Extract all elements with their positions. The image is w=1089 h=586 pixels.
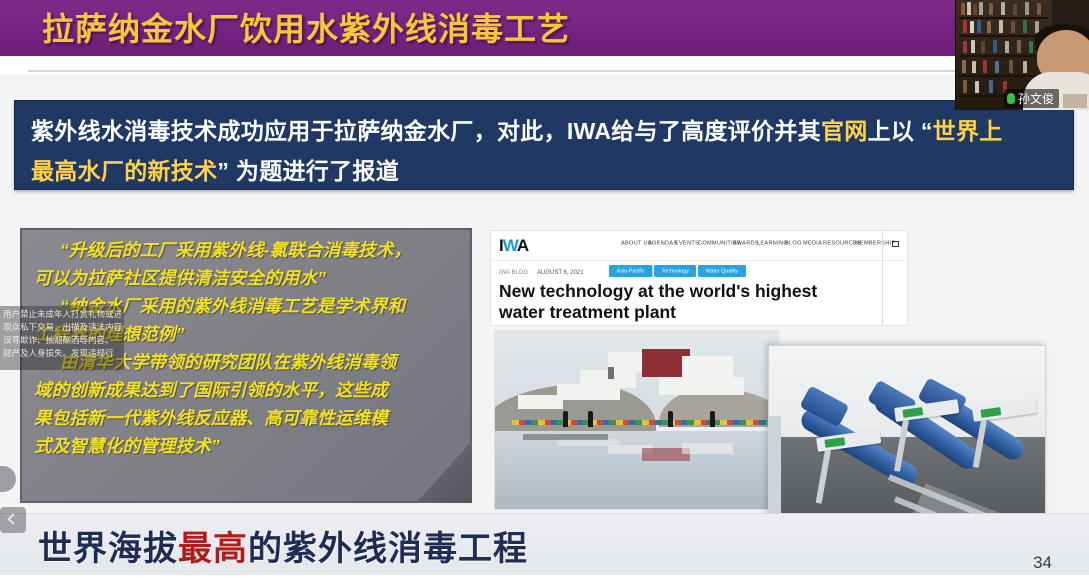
page-title: 拉萨纳金水厂饮用水紫外线消毒工艺 [42, 4, 570, 50]
photo-person [668, 411, 673, 427]
slide-footer-banner: 世界海拔最高的紫外线消毒工程 [0, 513, 1089, 575]
book [963, 20, 967, 33]
banner-line2-text: ” 为题进行了报道 [217, 158, 399, 184]
chevron-left-icon [7, 513, 18, 524]
stream-disclaimer-watermark: 用户禁止未成年人打赏礼物或进 观众私下交易，出描及违法内容 误导欺诈、抽烟酗酒等… [0, 306, 124, 370]
photo-prayer-flags [512, 420, 767, 425]
book [972, 61, 976, 73]
book [1005, 41, 1009, 53]
presentation-slide: 拉萨纳金水厂饮用水紫外线消毒工艺 紫外线水消毒技术成功应用于拉萨纳金水厂，对此，… [0, 0, 1089, 586]
shelf-row [959, 22, 1048, 37]
book [1025, 2, 1029, 15]
book [1023, 61, 1027, 73]
reflection-block [682, 443, 733, 454]
book [993, 40, 997, 53]
iwa-nav-item: BLOG [785, 240, 802, 246]
iwa-sidebar-rule [882, 231, 883, 325]
book [973, 4, 977, 15]
quote-line-8: 式及智慧化的管理技术” [34, 432, 458, 460]
photo-water-reflection [495, 431, 778, 509]
quote-line-6: 域的创新成果达到了国际引领的水平，这些成 [34, 376, 458, 404]
uv-label-tag [824, 437, 845, 448]
iwa-nav-item: AGENDAS [648, 240, 677, 246]
footer-text-b: 的紫外线消毒工程 [248, 530, 528, 568]
quote-line-1: “升级后的工厂采用紫外线-氯联合消毒技术， [34, 236, 458, 264]
iwa-website-screenshot: IWA ABOUT US AGENDAS EVENTS COMMUNITIES … [490, 230, 908, 326]
banner-line1-text-b: 上以 “ [868, 118, 933, 144]
screen: 拉萨纳金水厂饮用水紫外线消毒工艺 紫外线水消毒技术成功应用于拉萨纳金水厂，对此，… [0, 0, 1089, 586]
webcam-video-tile[interactable]: 孙文俊 [955, 0, 1089, 110]
shelf-row [959, 62, 1048, 77]
watermark-line: 误导欺诈、抽烟酗酒等内容。 [3, 334, 121, 347]
iwa-logo-icon: IWA [499, 237, 528, 254]
webcam-corner-artifact [1063, 94, 1087, 108]
book [1013, 4, 1017, 15]
iwa-nav-bar: IWA ABOUT US AGENDAS EVENTS COMMUNITIES … [491, 231, 907, 261]
footer-white-strip [0, 575, 1089, 586]
iwa-tag: Technology [654, 265, 696, 277]
banner-line1-highlight-2: 世界上 [933, 118, 1003, 144]
iwa-nav-item: LEARNING [757, 240, 788, 246]
watermark-line: 财产及人身损失。发现违规行 [3, 347, 121, 360]
page-number: 34 [1033, 553, 1052, 573]
book [1001, 2, 1005, 15]
footer-highlight: 最高 [178, 530, 248, 568]
book [1009, 60, 1013, 73]
left-edge-drag-handle[interactable] [0, 466, 16, 492]
watermark-line: 用户禁止未成年人打赏礼物或进 [3, 308, 121, 321]
book [979, 2, 983, 15]
book [981, 41, 985, 53]
book [1023, 20, 1027, 33]
participant-name-label: 孙文俊 [1004, 89, 1059, 108]
quote-line-7: 果包括新一代紫外线反应器、高可靠性运维模 [34, 404, 458, 432]
quote-line-2: 可以为拉萨社区提供清洁安全的用水” [34, 264, 458, 292]
book [1029, 41, 1033, 53]
photo-potala-palace [494, 330, 779, 510]
book [963, 41, 967, 53]
footer-caption: 世界海拔最高的紫外线消毒工程 [38, 521, 528, 570]
iwa-tag-list: Asia-Pacific Technology Water Quality [609, 267, 746, 275]
photo-person [563, 411, 568, 427]
iwa-breadcrumb: IWA BLOG [499, 267, 528, 275]
iwa-tag: Asia-Pacific [609, 265, 652, 277]
book [989, 3, 993, 15]
watermark-line: 观众私下交易，出描及违法内容 [3, 321, 121, 334]
book [1011, 21, 1015, 33]
microphone-icon [1007, 93, 1015, 104]
banner-line1-text-a: 紫外线水消毒技术成功应用于拉萨纳金水厂，对此，IWA给与了高度评价并其 [31, 118, 821, 144]
iwa-nav-menu: ABOUT US AGENDAS EVENTS COMMUNITIES AWAR… [621, 241, 881, 245]
photo-person [710, 411, 715, 427]
iwa-article-date: AUGUST 6, 2021 [537, 267, 584, 275]
palace-block [518, 395, 563, 409]
book [989, 80, 993, 93]
participant-name-text: 孙文俊 [1018, 90, 1054, 107]
banner-line1-highlight-1: 官网 [821, 118, 868, 144]
iwa-nav-item: MEDIA [803, 240, 822, 246]
book [1037, 3, 1041, 15]
iwa-article-meta: IWA BLOG AUGUST 6, 2021 Asia-Pacific Tec… [491, 261, 907, 277]
photo-person [588, 411, 593, 427]
uv-label-tag [902, 407, 923, 418]
book [961, 3, 965, 15]
banner-line-1: 紫外线水消毒技术成功应用于拉萨纳金水厂，对此，IWA给与了高度评价并其官网上以 … [31, 111, 1059, 151]
uv-label-tag [980, 407, 1001, 418]
iwa-nav-item: MEMBERSHIP [855, 240, 896, 246]
footer-text-a: 世界海拔 [38, 530, 178, 568]
book [977, 20, 981, 33]
iwa-nav-item: AWARDS [733, 240, 759, 246]
book [967, 2, 971, 15]
iwa-tag: Water Quality [698, 265, 745, 277]
banner-line2-highlight: 最高水厂的新技术 [31, 158, 217, 184]
title-divider [28, 70, 1073, 72]
iwa-article-headline: New technology at the world's highest wa… [499, 281, 859, 323]
book [987, 21, 991, 33]
book [962, 60, 966, 73]
book [1017, 40, 1021, 53]
book [970, 21, 974, 33]
book [975, 81, 979, 93]
shelf-row [959, 4, 1048, 19]
book [983, 60, 987, 73]
iwa-nav-item: EVENTS [675, 240, 699, 246]
palace-block [557, 384, 619, 400]
book [971, 40, 975, 53]
collapse-panel-button[interactable] [0, 507, 26, 533]
book [963, 80, 967, 93]
book [995, 61, 999, 73]
banner-line-2: 最高水厂的新技术” 为题进行了报道 [31, 151, 1059, 191]
book [999, 20, 1003, 33]
slide-title-bar: 拉萨纳金水厂饮用水紫外线消毒工艺 [0, 0, 1089, 56]
reflection-block [523, 434, 608, 440]
palace-detail [608, 367, 614, 379]
highlight-banner: 紫外线水消毒技术成功应用于拉萨纳金水厂，对此，IWA给与了高度评价并其官网上以 … [14, 100, 1074, 190]
palace-block [659, 377, 744, 395]
search-icon [892, 241, 899, 247]
